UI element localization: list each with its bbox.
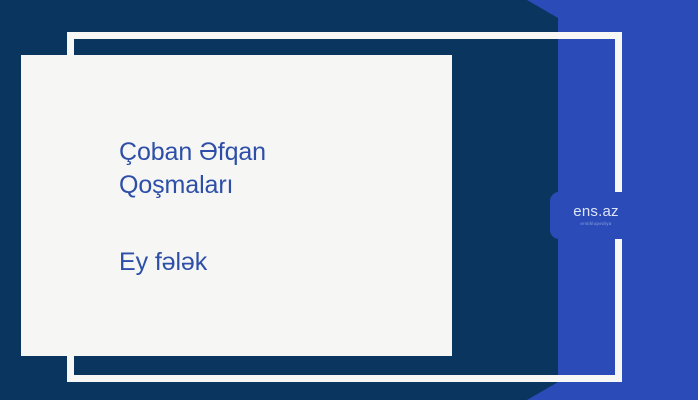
ensaz-logo-badge[interactable]: ens.az ensiklopediya <box>550 192 642 239</box>
slide-title: Çoban Əfqan Qoşmaları <box>119 136 419 202</box>
logo-tagline: ensiklopediya <box>580 222 611 226</box>
slide-text-block: Çoban Əfqan Qoşmaları Ey fələk <box>119 136 419 279</box>
logo-wordmark: ens.az <box>573 204 618 219</box>
presentation-slide: Çoban Əfqan Qoşmaları Ey fələk ens.az en… <box>0 0 698 400</box>
slide-subtitle: Ey fələk <box>119 202 419 279</box>
